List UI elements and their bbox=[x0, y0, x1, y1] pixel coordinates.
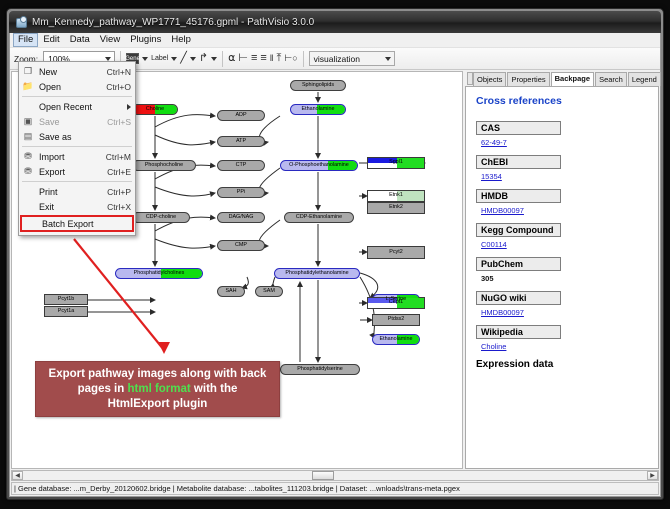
tab-legend[interactable]: Legend bbox=[628, 72, 661, 86]
label-dropdown-icon[interactable] bbox=[171, 57, 177, 61]
file-menu-open[interactable]: 📁OpenCtrl+O bbox=[19, 79, 135, 94]
distribute-horizontal-icon[interactable]: ≡ bbox=[260, 53, 266, 64]
file-menu-import[interactable]: ⛃ImportCtrl+M bbox=[19, 149, 135, 164]
file-menu-item-accelerator: Ctrl+E bbox=[101, 167, 131, 177]
file-menu-batch-export[interactable]: Batch Export bbox=[20, 215, 134, 232]
horizontal-scrollbar[interactable]: ◀ ▶ bbox=[11, 470, 659, 481]
annotation-callout: Export pathway images along with back pa… bbox=[35, 361, 280, 417]
file-menu-dropdown[interactable]: ❐NewCtrl+N📁OpenCtrl+OOpen Recent▣SaveCtr… bbox=[18, 61, 136, 236]
align-left-icon[interactable]: ⊢ bbox=[238, 53, 248, 64]
save-icon: ▣ bbox=[21, 116, 35, 127]
line-dropdown-icon[interactable] bbox=[190, 57, 196, 61]
file-menu-item-label: Import bbox=[35, 152, 100, 162]
tab-backpage[interactable]: Backpage bbox=[551, 72, 594, 86]
submenu-arrow-icon bbox=[127, 104, 131, 110]
file-menu-item-accelerator: Ctrl+M bbox=[100, 152, 131, 162]
xref-value: 305 bbox=[476, 271, 658, 283]
annotation-line-3: HtmlExport plugin bbox=[108, 397, 208, 412]
open-folder-icon: 📁 bbox=[21, 81, 35, 92]
cross-reference-list: CAS62-49-7ChEBI15354HMDBHMDB00097Kegg Co… bbox=[476, 121, 658, 351]
status-bar: | Gene database: ...m_Derby_20120602.bri… bbox=[11, 482, 659, 495]
xref-link[interactable]: HMDB00097 bbox=[476, 305, 658, 317]
scroll-left-icon[interactable]: ◀ bbox=[12, 471, 23, 480]
annotation-line-2b: with the bbox=[191, 383, 238, 395]
file-menu-open-recent[interactable]: Open Recent bbox=[19, 99, 135, 114]
menu-divider bbox=[22, 181, 132, 182]
xref-source-label: HMDB bbox=[476, 189, 561, 203]
same-width-icon[interactable]: ‖ bbox=[270, 54, 274, 63]
xref-source-label: NuGO wiki bbox=[476, 291, 561, 305]
file-menu-item-label: New bbox=[35, 67, 101, 77]
xref-block-pubchem: PubChem305 bbox=[476, 257, 658, 283]
tab-properties[interactable]: Properties bbox=[507, 72, 549, 86]
file-menu-export[interactable]: ⛃ExportCtrl+E bbox=[19, 164, 135, 179]
datanode-dropdown-icon[interactable] bbox=[142, 57, 148, 61]
file-menu-item-accelerator: Ctrl+S bbox=[101, 117, 131, 127]
xref-source-label: CAS bbox=[476, 121, 561, 135]
file-menu-save: ▣SaveCtrl+S bbox=[19, 114, 135, 129]
menu-item-view[interactable]: View bbox=[95, 33, 125, 47]
xref-block-kegg-compound: Kegg CompoundC00114 bbox=[476, 223, 658, 249]
xref-block-hmdb: HMDBHMDB00097 bbox=[476, 189, 658, 215]
label-tool-label[interactable]: Label bbox=[151, 55, 168, 62]
menu-item-plugins[interactable]: Plugins bbox=[125, 33, 166, 47]
interaction-tool-icon[interactable]: ↱ bbox=[199, 53, 208, 64]
annotation-line-2-highlight: html format bbox=[127, 383, 190, 395]
new-document-icon: ❐ bbox=[21, 66, 35, 77]
annotation-line-1b: back bbox=[240, 368, 266, 380]
file-menu-item-label: Save bbox=[35, 117, 101, 127]
interaction-dropdown-icon[interactable] bbox=[211, 57, 217, 61]
file-menu-item-label: Open bbox=[35, 82, 100, 92]
xref-link[interactable]: Choline bbox=[476, 339, 658, 351]
visualization-combobox[interactable]: visualization bbox=[309, 51, 395, 66]
menu-item-help[interactable]: Help bbox=[166, 33, 196, 47]
file-menu-item-accelerator: Ctrl+N bbox=[101, 67, 131, 77]
xref-link[interactable]: HMDB00097 bbox=[476, 203, 658, 215]
file-menu-print[interactable]: PrintCtrl+P bbox=[19, 184, 135, 199]
title-bar: Mm_Kennedy_pathway_WP1771_45176.gpml - P… bbox=[9, 11, 661, 33]
file-menu-item-label: Batch Export bbox=[38, 219, 122, 229]
distribute-vertical-icon[interactable]: ≡ bbox=[251, 53, 257, 64]
xref-link[interactable]: 62-49-7 bbox=[476, 135, 658, 147]
file-menu-item-label: Open Recent bbox=[35, 102, 127, 112]
xref-block-nugo-wiki: NuGO wikiHMDB00097 bbox=[476, 291, 658, 317]
file-menu-item-label: Exit bbox=[35, 202, 101, 212]
file-menu-new[interactable]: ❐NewCtrl+N bbox=[19, 64, 135, 79]
xref-source-label: Wikipedia bbox=[476, 325, 561, 339]
file-menu-item-accelerator: Ctrl+O bbox=[100, 82, 131, 92]
side-panel-tabs: ObjectsPropertiesBackpageSearchLegend bbox=[465, 71, 659, 86]
visualization-value: visualization bbox=[314, 54, 360, 64]
pathvisio-icon bbox=[15, 16, 27, 28]
screenshot-root: Mm_Kennedy_pathway_WP1771_45176.gpml - P… bbox=[0, 0, 670, 509]
file-menu-save-as[interactable]: ▤Save as bbox=[19, 129, 135, 144]
application-window: Mm_Kennedy_pathway_WP1771_45176.gpml - P… bbox=[6, 8, 664, 500]
menu-divider bbox=[22, 146, 132, 147]
align-top-icon[interactable]: ⍺ bbox=[228, 53, 235, 64]
window-title: Mm_Kennedy_pathway_WP1771_45176.gpml - P… bbox=[32, 17, 314, 28]
file-menu-item-label: Print bbox=[35, 187, 101, 197]
toolbar-separator bbox=[222, 51, 223, 67]
save-as-icon: ▤ bbox=[21, 131, 35, 142]
xref-source-label: ChEBI bbox=[476, 155, 561, 169]
cross-references-title: Cross references bbox=[476, 95, 658, 107]
menu-item-edit[interactable]: Edit bbox=[38, 33, 64, 47]
xref-block-wikipedia: WikipediaCholine bbox=[476, 325, 658, 351]
export-icon: ⛃ bbox=[21, 166, 35, 177]
status-text: | Gene database: ...m_Derby_20120602.bri… bbox=[14, 484, 460, 493]
xref-source-label: PubChem bbox=[476, 257, 561, 271]
toolbar-separator bbox=[303, 51, 304, 67]
xref-link[interactable]: C00114 bbox=[476, 237, 658, 249]
line-tool-icon[interactable]: ╱ bbox=[180, 53, 187, 64]
scrollbar-thumb[interactable] bbox=[312, 471, 334, 480]
annotation-line-1a: Export pathway images along with bbox=[49, 368, 241, 380]
group-icon[interactable]: ⊢○ bbox=[284, 54, 297, 63]
client-area: FileEditDataViewPluginsHelp Zoom: 100% G… bbox=[9, 33, 661, 497]
tab-search[interactable]: Search bbox=[595, 72, 627, 86]
menu-item-data[interactable]: Data bbox=[65, 33, 95, 47]
chevron-down-icon bbox=[385, 57, 391, 61]
import-icon: ⛃ bbox=[21, 151, 35, 162]
chevron-down-icon bbox=[105, 57, 111, 61]
tab-objects[interactable]: Objects bbox=[473, 72, 506, 86]
annotation-line-1: Export pathway images along with back bbox=[49, 367, 267, 382]
file-menu-item-label: Export bbox=[35, 167, 101, 177]
expression-data-title: Expression data bbox=[476, 359, 658, 370]
annotation-line-2a: pages in bbox=[78, 383, 128, 395]
scroll-right-icon[interactable]: ▶ bbox=[647, 471, 658, 480]
xref-source-label: Kegg Compound bbox=[476, 223, 561, 237]
file-menu-item-accelerator: Ctrl+P bbox=[101, 187, 131, 197]
xref-link[interactable]: 15354 bbox=[476, 169, 658, 181]
stack-icon[interactable]: ⤒ bbox=[277, 53, 282, 64]
xref-block-cas: CAS62-49-7 bbox=[476, 121, 658, 147]
xref-block-chebi: ChEBI15354 bbox=[476, 155, 658, 181]
side-panel: ObjectsPropertiesBackpageSearchLegend Cr… bbox=[465, 71, 659, 469]
annotation-line-2: pages in html format with the bbox=[78, 382, 238, 397]
backpage-content[interactable]: Cross references CAS62-49-7ChEBI15354HMD… bbox=[465, 86, 659, 469]
file-menu-item-label: Save as bbox=[35, 132, 125, 142]
file-menu-exit[interactable]: ExitCtrl+X bbox=[19, 199, 135, 214]
menu-bar: FileEditDataViewPluginsHelp bbox=[10, 33, 660, 48]
file-menu-item-accelerator: Ctrl+X bbox=[101, 202, 131, 212]
menu-item-file[interactable]: File bbox=[13, 33, 38, 47]
menu-divider bbox=[22, 96, 132, 97]
